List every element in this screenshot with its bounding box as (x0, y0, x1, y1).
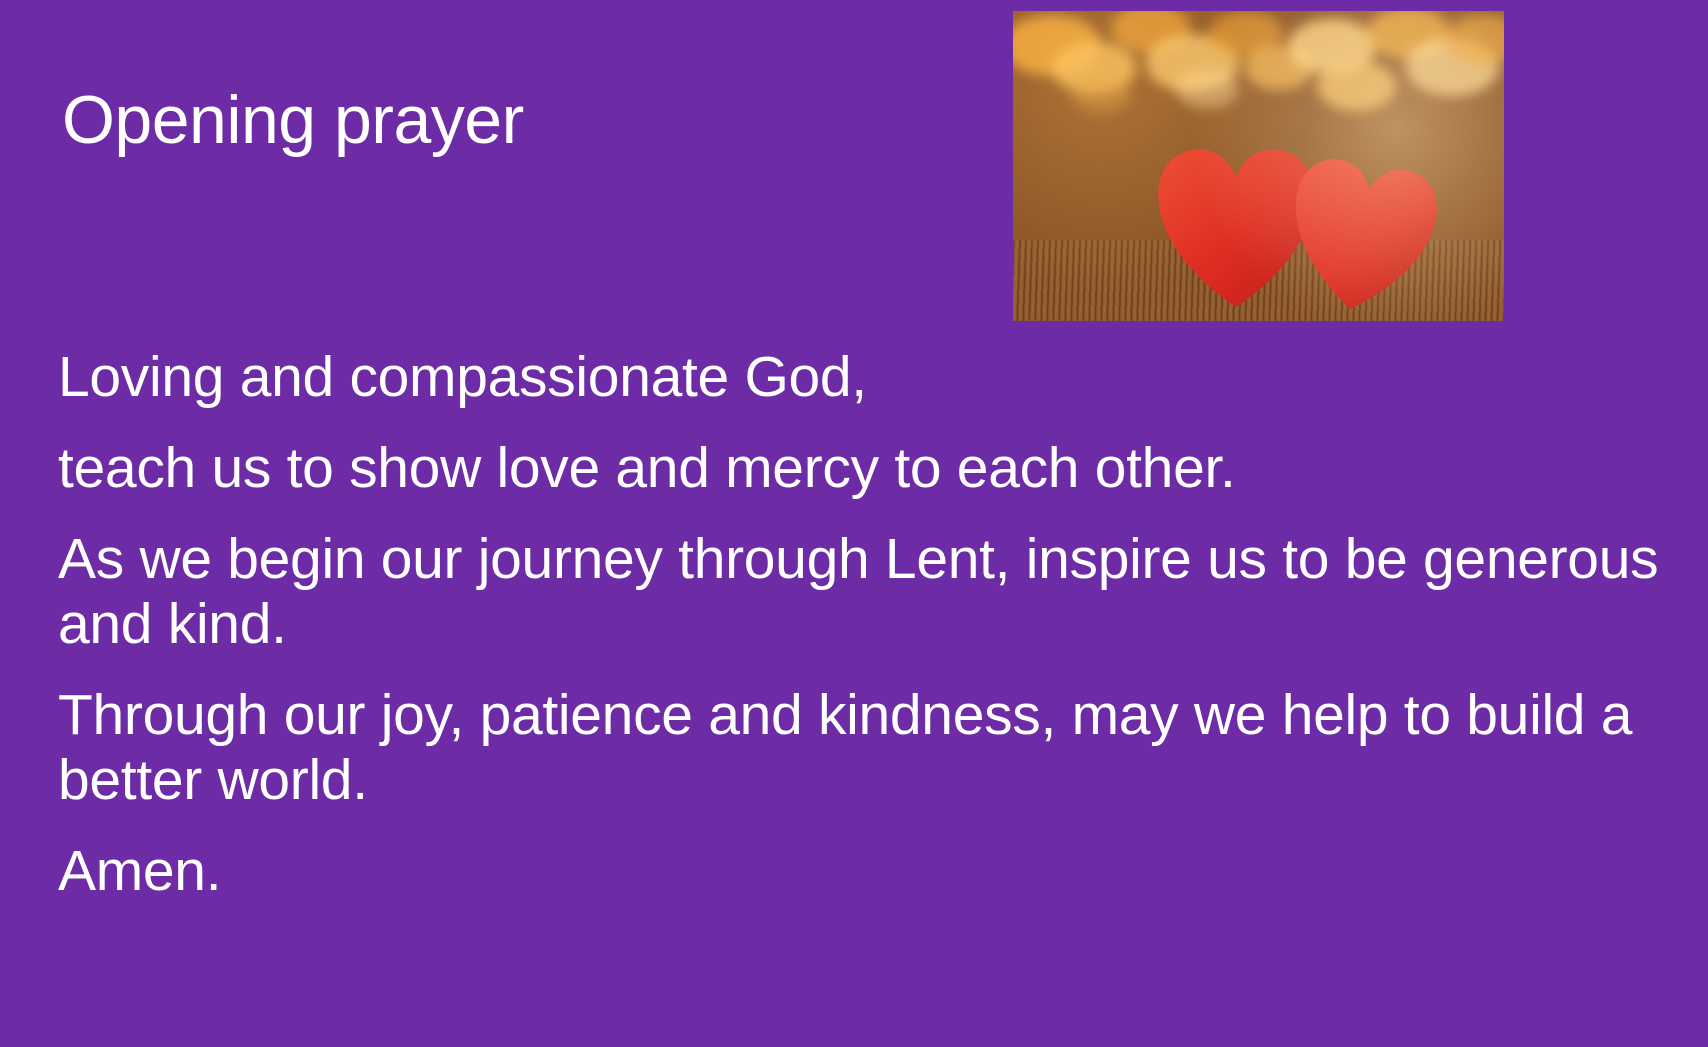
prayer-line: As we begin our journey through Lent, in… (58, 527, 1668, 657)
slide: Opening prayer (0, 0, 1708, 1047)
page-title: Opening prayer (62, 84, 962, 157)
prayer-line: Amen. (58, 839, 1668, 904)
prayer-line: Loving and compassionate God, (58, 345, 1668, 410)
heart-shape-right (1277, 151, 1446, 321)
prayer-line: teach us to show love and mercy to each … (58, 436, 1668, 501)
hearts-photo (1013, 11, 1504, 321)
prayer-line: Through our joy, patience and kindness, … (58, 683, 1668, 813)
prayer-text: Loving and compassionate God, teach us t… (58, 345, 1668, 904)
